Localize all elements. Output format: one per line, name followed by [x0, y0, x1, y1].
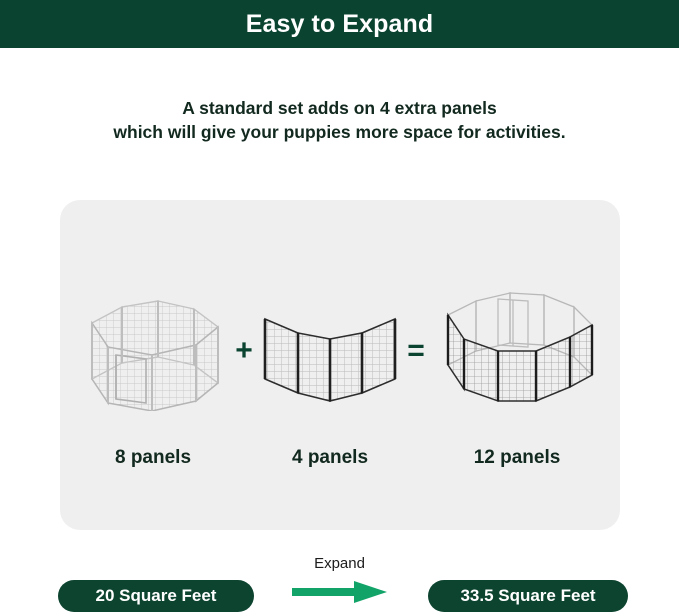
expand-label: Expand	[314, 556, 365, 571]
area-comparison-row: 20 Square Feet Expand 33.5 Square Feet	[0, 548, 679, 616]
equation-item-4-panels: 4 panels	[260, 261, 400, 469]
equation-item-12-panels: 12 panels	[432, 261, 602, 469]
area-badge-before: 20 Square Feet	[58, 580, 254, 612]
subtitle-line-1: A standard set adds on 4 extra panels	[0, 96, 679, 120]
subtitle-line-2: which will give your puppies more space …	[0, 120, 679, 144]
equation-label-4-panels: 4 panels	[292, 447, 368, 469]
expansion-card: 8 panels +	[60, 200, 620, 530]
expand-indicator: Expand	[287, 556, 392, 604]
octagon-pen-8-panels-icon	[78, 261, 228, 411]
fan-pen-4-panels-icon	[260, 261, 400, 411]
header-banner: Easy to Expand	[0, 0, 679, 48]
panel-equation: 8 panels +	[60, 200, 620, 530]
equation-label-8-panels: 8 panels	[115, 447, 191, 469]
page-title: Easy to Expand	[246, 12, 434, 37]
equals-icon: =	[407, 336, 425, 366]
equation-item-8-panels: 8 panels	[78, 261, 228, 469]
polygon-pen-12-panels-icon	[432, 261, 602, 411]
arrow-right-icon	[292, 580, 388, 604]
subtitle-block: A standard set adds on 4 extra panels wh…	[0, 96, 679, 144]
equation-label-12-panels: 12 panels	[474, 447, 561, 469]
area-badge-after: 33.5 Square Feet	[428, 580, 628, 612]
plus-icon: +	[235, 336, 253, 366]
